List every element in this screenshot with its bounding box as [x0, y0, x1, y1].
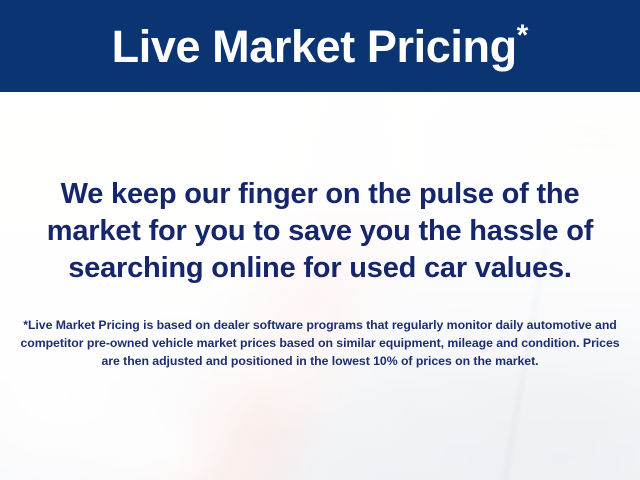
page-title: Live Market Pricing*: [112, 21, 529, 71]
page-title-text: Live Market Pricing: [112, 21, 517, 72]
headline-text: We keep our finger on the pulse of the m…: [22, 176, 618, 287]
title-asterisk: *: [517, 19, 529, 52]
live-market-pricing-slide: Live Market Pricing* We keep our finger …: [0, 0, 640, 480]
title-banner: Live Market Pricing*: [0, 0, 640, 92]
disclaimer-footnote: *Live Market Pricing is based on dealer …: [20, 316, 620, 370]
content-area: We keep our finger on the pulse of the m…: [0, 92, 640, 480]
